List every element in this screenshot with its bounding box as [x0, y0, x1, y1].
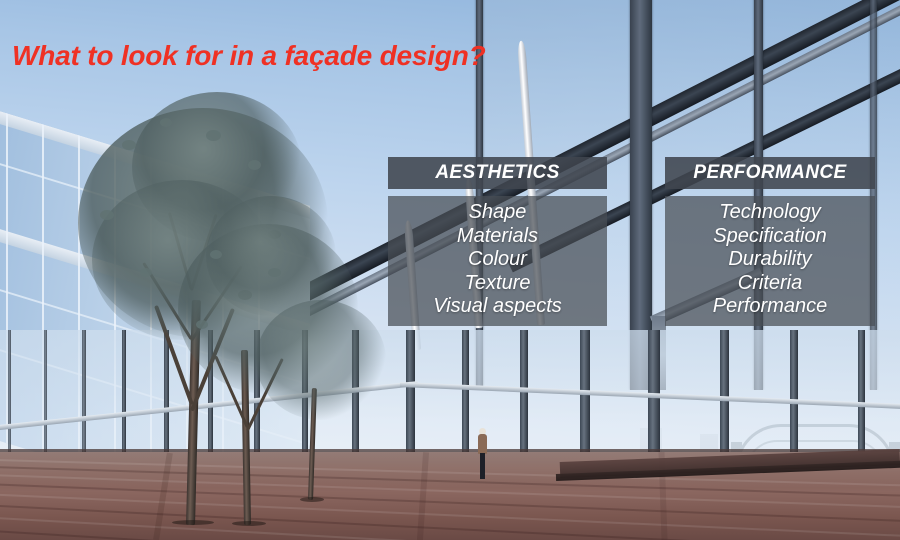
panel-aesthetics-header: AESTHETICS [388, 157, 607, 189]
panel-performance-item-4: Performance [713, 295, 828, 319]
panel-performance-item-2: Durability [728, 248, 811, 272]
panel-performance-item-3: Criteria [738, 272, 802, 296]
panel-performance: PERFORMANCE Technology Specification Dur… [665, 157, 875, 326]
panel-aesthetics-item-3: Texture [465, 272, 531, 296]
panel-aesthetics-item-0: Shape [469, 201, 527, 225]
panel-aesthetics-item-4: Visual aspects [433, 295, 562, 319]
panel-aesthetics-item-1: Materials [457, 225, 538, 249]
panel-aesthetics-item-2: Colour [468, 248, 527, 272]
panel-performance-item-0: Technology [719, 201, 821, 225]
slide: What to look for in a façade design? AES… [0, 0, 900, 540]
panel-performance-header: PERFORMANCE [665, 157, 875, 189]
person-figure [478, 428, 487, 480]
panel-performance-item-1: Specification [713, 225, 826, 249]
page-title: What to look for in a façade design? [12, 40, 486, 72]
panel-aesthetics: AESTHETICS Shape Materials Colour Textur… [388, 157, 607, 326]
panel-aesthetics-body: Shape Materials Colour Texture Visual as… [388, 196, 607, 326]
panel-performance-body: Technology Specification Durability Crit… [665, 196, 875, 326]
